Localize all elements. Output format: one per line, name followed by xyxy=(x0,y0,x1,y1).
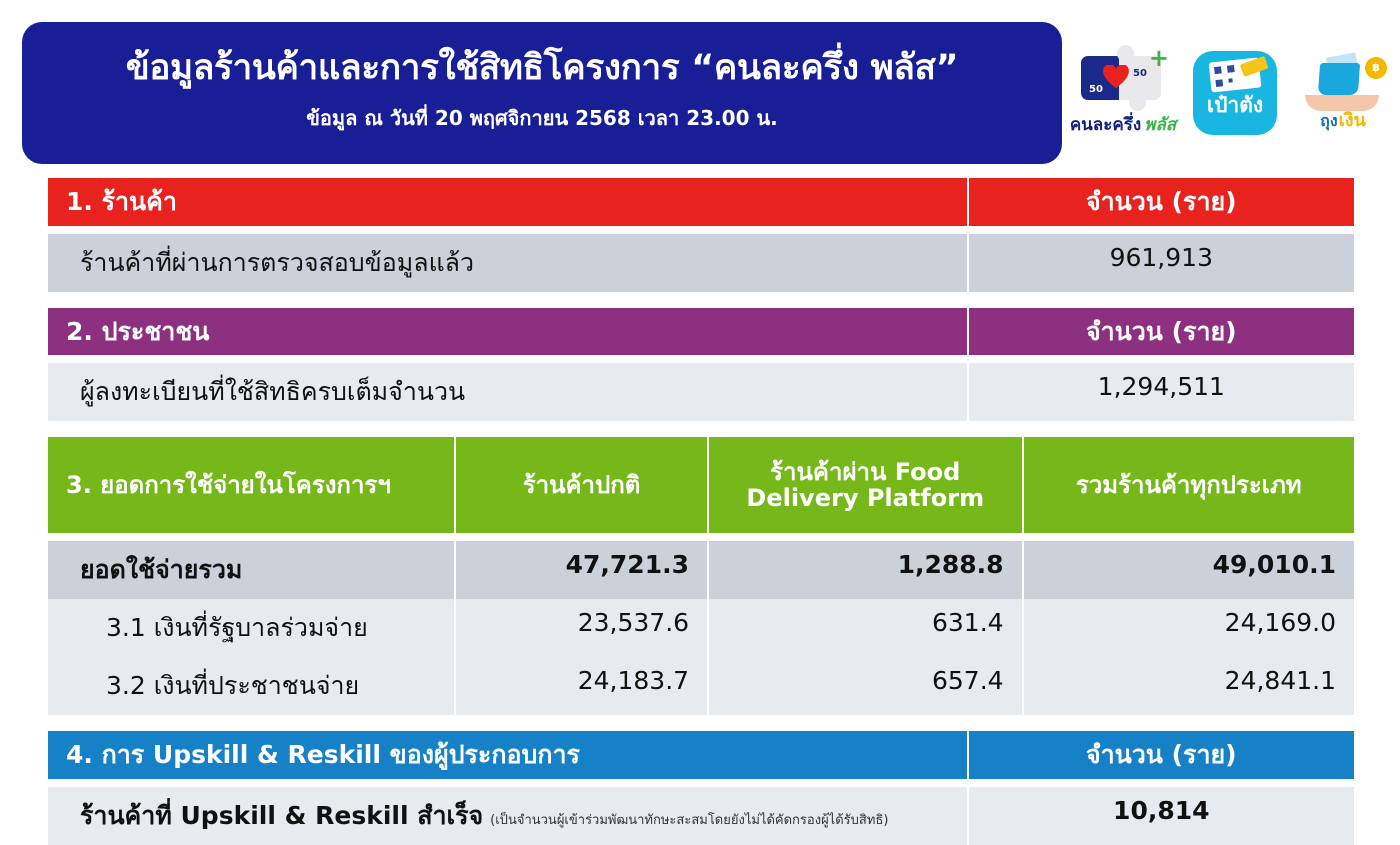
thungngoen-wordmark: ถุง เงิน xyxy=(1320,105,1366,134)
row-label-group: ร้านค้าที่ Upskill & Reskill สำเร็จ (เป็… xyxy=(48,787,967,845)
plus-icon: + xyxy=(1149,46,1169,70)
row-value-normal: 47,721.3 xyxy=(456,541,707,599)
row-gap xyxy=(48,533,1354,541)
puzzle-icon: 50 50 + xyxy=(1075,48,1171,110)
row-label: ร้านค้าที่ผ่านการตรวจสอบข้อมูลแล้ว xyxy=(48,234,967,292)
section-gap xyxy=(48,715,1354,731)
heart-icon xyxy=(1103,65,1129,89)
column-header-all-merchants: รวมร้านค้าทุกประเภท xyxy=(1024,437,1354,533)
thungngoen-word-accent: เงิน xyxy=(1339,105,1366,134)
khonlakhrueng-wordmark: คนละครึ่ง พลัส xyxy=(1070,111,1176,138)
row-value: 10,814 xyxy=(969,787,1354,845)
row-value-food: 631.4 xyxy=(709,599,1022,657)
row-gap xyxy=(48,355,1354,363)
section-merchants-header: 1. ร้านค้า จำนวน (ราย) xyxy=(48,178,1354,226)
logo-group: 50 50 + คนละครึ่ง พลัส เป๋าตัง xyxy=(1062,22,1400,164)
wallet-icon xyxy=(1209,57,1262,92)
data-timestamp: ข้อมูล ณ วันที่ 20 พฤศจิกายน 2568 เวลา 2… xyxy=(306,102,777,134)
section-citizens-header: 2. ประชาชน จำนวน (ราย) xyxy=(48,308,1354,356)
table-row: ยอดใช้จ่ายรวม 47,721.3 1,288.8 49,010.1 xyxy=(48,541,1354,599)
infographic-page: ข้อมูลร้านค้าและการใช้สิทธิโครงการ “คนละ… xyxy=(0,0,1400,787)
card-icon xyxy=(1240,56,1269,77)
page-title: ข้อมูลร้านค้าและการใช้สิทธิโครงการ “คนละ… xyxy=(126,48,959,88)
row-label: ร้านค้าที่ Upskill & Reskill สำเร็จ xyxy=(80,796,483,836)
thungngoen-word-main: ถุง xyxy=(1320,109,1338,134)
section-citizens: 2. ประชาชน จำนวน (ราย) ผู้ลงทะเบียนที่ใช… xyxy=(48,308,1354,422)
section-upskill-value-header: จำนวน (ราย) xyxy=(969,731,1354,779)
section-merchants-value-header: จำนวน (ราย) xyxy=(969,178,1354,226)
table-row: 3.2 เงินที่ประชาชนจ่าย 24,183.7 657.4 24… xyxy=(48,657,1354,715)
section-spending-title: 3. ยอดการใช้จ่ายในโครงการฯ xyxy=(48,437,454,533)
data-tables: 1. ร้านค้า จำนวน (ราย) ร้านค้าที่ผ่านการ… xyxy=(48,178,1354,845)
row-value-food: 657.4 xyxy=(709,657,1022,715)
section-gap xyxy=(48,421,1354,437)
paotang-app-icon: เป๋าตัง xyxy=(1193,51,1277,135)
section-gap xyxy=(48,292,1354,308)
column-header-food-line1: ร้านค้าผ่าน Food xyxy=(746,459,984,485)
qr-code-icon xyxy=(1214,65,1236,87)
column-header-normal-merchants: ร้านค้าปกติ xyxy=(456,437,707,533)
section-upskill-header: 4. การ Upskill & Reskill ของผู้ประกอบการ… xyxy=(48,731,1354,779)
row-value-food: 1,288.8 xyxy=(709,541,1022,599)
row-value-normal: 23,537.6 xyxy=(456,599,707,657)
column-header-food-line2: Delivery Platform xyxy=(746,485,984,511)
row-gap xyxy=(48,226,1354,234)
bag-icon xyxy=(1318,63,1360,95)
row-value: 961,913 xyxy=(969,234,1354,292)
row-value-total: 49,010.1 xyxy=(1024,541,1354,599)
row-label: ผู้ลงทะเบียนที่ใช้สิทธิครบเต็มจำนวน xyxy=(48,363,967,421)
section-merchants: 1. ร้านค้า จำนวน (ราย) ร้านค้าที่ผ่านการ… xyxy=(48,178,1354,292)
section-spending-header: 3. ยอดการใช้จ่ายในโครงการฯ ร้านค้าปกติ ร… xyxy=(48,437,1354,533)
section-spending: 3. ยอดการใช้จ่ายในโครงการฯ ร้านค้าปกติ ร… xyxy=(48,437,1354,715)
row-label: 3.2 เงินที่ประชาชนจ่าย xyxy=(48,657,454,715)
row-value-total: 24,841.1 xyxy=(1024,657,1354,715)
row-value-normal: 24,183.7 xyxy=(456,657,707,715)
paotang-app-logo: เป๋าตัง xyxy=(1187,51,1283,135)
row-value-total: 24,169.0 xyxy=(1024,599,1354,657)
section-citizens-value-header: จำนวน (ราย) xyxy=(969,308,1354,356)
header-banner: ข้อมูลร้านค้าและการใช้สิทธิโครงการ “คนละ… xyxy=(22,22,1062,164)
row-gap xyxy=(48,779,1354,787)
khonlakhrueng-plus-logo: 50 50 + คนละครึ่ง พลัส xyxy=(1067,48,1179,138)
badge-fifty-left: 50 xyxy=(1089,84,1103,95)
page-header: ข้อมูลร้านค้าและการใช้สิทธิโครงการ “คนละ… xyxy=(0,0,1400,172)
paotang-label: เป๋าตัง xyxy=(1207,95,1263,116)
section-merchants-title: 1. ร้านค้า xyxy=(48,178,967,226)
row-value: 1,294,511 xyxy=(969,363,1354,421)
section-upskill: 4. การ Upskill & Reskill ของผู้ประกอบการ… xyxy=(48,731,1354,845)
table-row: ร้านค้าที่ผ่านการตรวจสอบข้อมูลแล้ว 961,9… xyxy=(48,234,1354,292)
row-note: (เป็นจำนวนผู้เข้าร่วมพัฒนาทักษะสะสมโดยยั… xyxy=(490,809,888,830)
column-header-food-delivery: ร้านค้าผ่าน Food Delivery Platform xyxy=(709,437,1022,533)
section-citizens-title: 2. ประชาชน xyxy=(48,308,967,356)
table-row: 3.1 เงินที่รัฐบาลร่วมจ่าย 23,537.6 631.4… xyxy=(48,599,1354,657)
section-upskill-title: 4. การ Upskill & Reskill ของผู้ประกอบการ xyxy=(48,731,967,779)
row-label: 3.1 เงินที่รัฐบาลร่วมจ่าย xyxy=(48,599,454,657)
khonlakhrueng-word-main: คนละครึ่ง xyxy=(1070,111,1141,138)
coin-icon: ฿ xyxy=(1365,57,1387,79)
table-row: ร้านค้าที่ Upskill & Reskill สำเร็จ (เป็… xyxy=(48,787,1354,845)
table-row: ผู้ลงทะเบียนที่ใช้สิทธิครบเต็มจำนวน 1,29… xyxy=(48,363,1354,421)
row-label: ยอดใช้จ่ายรวม xyxy=(48,541,454,599)
khonlakhrueng-word-accent: พลัส xyxy=(1144,111,1176,138)
thungngoen-logo: ฿ ถุง เงิน xyxy=(1291,53,1395,134)
badge-fifty-right: 50 xyxy=(1133,68,1147,79)
